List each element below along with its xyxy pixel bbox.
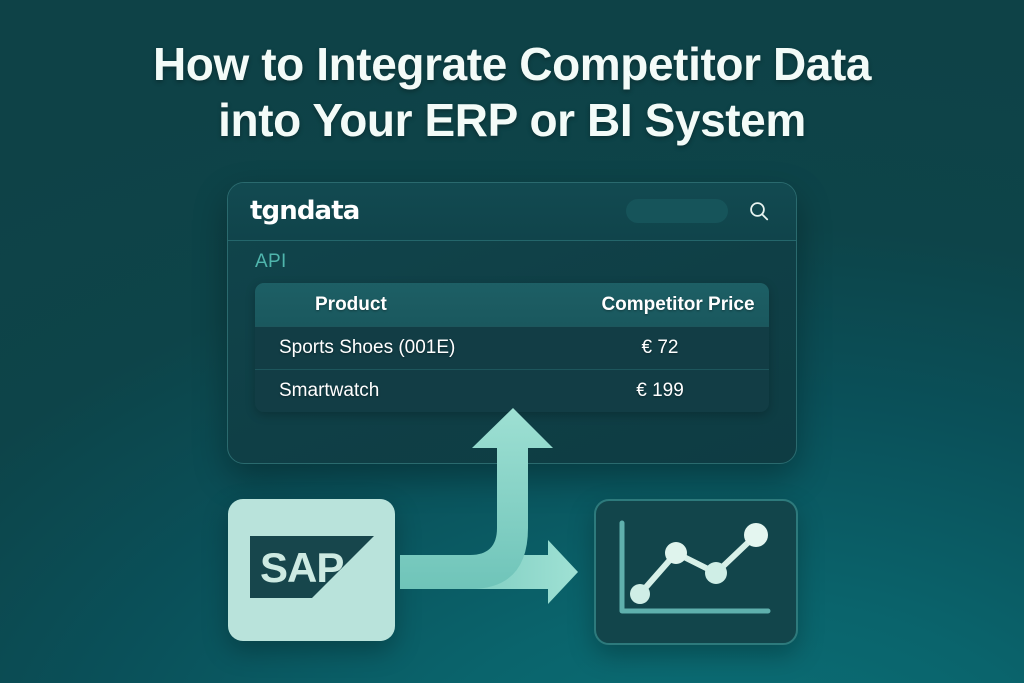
title-line-1: How to Integrate Competitor Data [0,36,1024,92]
table-row[interactable]: Sports Shoes (001E) € 72 [255,326,769,369]
svg-text:SAP: SAP [260,544,343,591]
competitor-price-table: Product Competitor Price Sports Shoes (0… [255,283,769,412]
sap-logo-tile: SAP [228,499,395,641]
page-title: How to Integrate Competitor Data into Yo… [0,36,1024,148]
chart-point [744,523,768,547]
cell-product-name: Sports Shoes (001E) [255,337,551,359]
chart-point [705,562,727,584]
table-row[interactable]: Smartwatch € 199 [255,369,769,412]
cell-product-name: Smartwatch [255,380,551,402]
search-icon[interactable] [747,199,771,223]
table-header-row: Product Competitor Price [255,283,769,326]
chart-point [665,542,687,564]
cell-competitor-price: € 72 [551,337,769,359]
brand-logo: tgndata [250,196,359,226]
poster-canvas: How to Integrate Competitor Data into Yo… [0,0,1024,683]
sap-logo-icon: SAP [250,536,374,598]
section-label-api: API [255,251,287,273]
column-header-price: Competitor Price [587,294,769,316]
api-preview-card: tgndata API Product Competitor Price Spo… [227,182,797,464]
column-header-product: Product [255,294,587,316]
title-line-2: into Your ERP or BI System [0,92,1024,148]
line-chart-icon [596,501,792,639]
cell-competitor-price: € 199 [551,380,769,402]
arrow-right-icon [400,540,578,604]
search-input[interactable] [626,199,728,223]
bi-chart-tile [594,499,798,645]
chart-line [640,535,756,594]
card-header: tgndata [228,183,796,241]
chart-point [630,584,650,604]
